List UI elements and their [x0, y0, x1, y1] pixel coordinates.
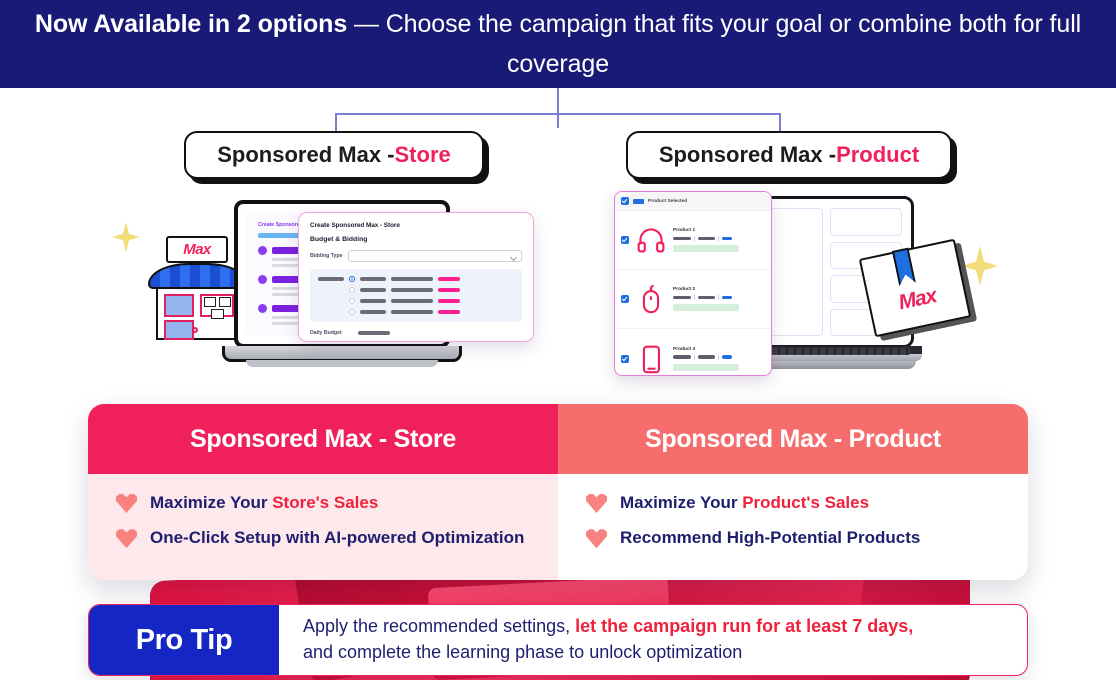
product-row[interactable]: Product 3: [615, 329, 771, 376]
sparkle-icon: [962, 246, 998, 286]
product-checkbox[interactable]: [621, 295, 629, 303]
top-banner: Now Available in 2 options — Choose the …: [0, 0, 1116, 88]
pro-tip-badge: Pro Tip: [89, 605, 279, 675]
list-item: Maximize Your Store's Sales: [116, 492, 530, 513]
product-checkbox[interactable]: [621, 355, 629, 363]
comparison-column-store: Sponsored Max - Store Maximize Your Stor…: [88, 404, 558, 580]
product-row[interactable]: Product 1: [615, 211, 771, 270]
item-hot: Product's Sales: [742, 493, 869, 512]
item-lead: One-Click Setup with AI-powered Optimiza…: [150, 528, 524, 547]
pro-tip-lead: Apply the recommended settings,: [303, 616, 575, 636]
product-name: Product 1: [673, 228, 765, 233]
bidding-type-select[interactable]: [348, 250, 522, 262]
heart-icon: [586, 494, 607, 513]
pill-product-accent: Product: [836, 142, 919, 168]
illustration-band: Max Create Sponsored Max -: [0, 186, 1116, 398]
headphones-icon: [634, 219, 668, 261]
product-name: Product 3: [673, 347, 765, 352]
pill-store-prefix: Sponsored Max -: [217, 142, 394, 168]
bidding-radio[interactable]: [349, 276, 355, 282]
banner-rest: — Choose the campaign that fits your goa…: [347, 10, 1081, 79]
banner-text: Now Available in 2 options — Choose the …: [0, 4, 1116, 85]
product-selected-header: Product Selected: [615, 192, 771, 211]
select-all-checkbox[interactable]: [621, 197, 629, 205]
product-selected-card: Product Selected Product 1: [614, 191, 772, 376]
product-name: Product 2: [673, 287, 765, 292]
item-hot: Store's Sales: [272, 493, 378, 512]
bidding-radio[interactable]: [349, 287, 355, 293]
product-row[interactable]: Product 2: [615, 270, 771, 329]
connector-horizontal: [335, 113, 781, 115]
list-item: One-Click Setup with AI-powered Optimiza…: [116, 527, 530, 548]
bidding-radio[interactable]: [349, 298, 355, 304]
comparison-panel: Sponsored Max - Store Maximize Your Stor…: [88, 404, 1028, 580]
product-checkbox[interactable]: [621, 236, 629, 244]
item-lead: Maximize Your: [150, 493, 272, 512]
pro-tip-line-1: Apply the recommended settings, let the …: [303, 614, 1003, 640]
pro-tip-line-2: and complete the learning phase to unloc…: [303, 640, 1003, 666]
smartphone-icon: [634, 338, 668, 377]
comparison-header-store: Sponsored Max - Store: [88, 404, 558, 474]
budget-bidding-heading: Budget & Bidding: [310, 236, 522, 243]
comparison-column-product: Sponsored Max - Product Maximize Your Pr…: [558, 404, 1028, 580]
list-item: Recommend High-Potential Products: [586, 527, 1000, 548]
mouse-icon: [634, 278, 668, 320]
create-campaign-heading: Create Sponsored Max - Store: [310, 222, 522, 229]
bidding-options-panel: [310, 269, 522, 322]
item-lead: Recommend High-Potential Products: [620, 528, 920, 547]
heart-icon: [116, 494, 137, 513]
bidding-type-label: Bidding Type: [310, 253, 342, 259]
pro-tip-panel: Pro Tip Apply the recommended settings, …: [88, 604, 1028, 676]
store-sign-label: Max: [183, 241, 210, 258]
pill-store-accent: Store: [395, 142, 451, 168]
list-item: Maximize Your Product's Sales: [586, 492, 1000, 513]
infographic-canvas: Now Available in 2 options — Choose the …: [0, 0, 1116, 680]
connector-vertical-top: [557, 88, 559, 128]
item-lead: Maximize Your: [620, 493, 742, 512]
bidding-radio[interactable]: [349, 309, 355, 315]
store-sign: Max: [166, 236, 228, 263]
product-selected-label: Product Selected: [648, 199, 687, 204]
banner-strong: Now Available in 2 options: [35, 10, 347, 38]
pill-store[interactable]: Sponsored Max - Store: [184, 131, 484, 179]
pill-product[interactable]: Sponsored Max - Product: [626, 131, 952, 179]
create-campaign-card: Create Sponsored Max - Store Budget & Bi…: [298, 212, 534, 342]
pill-product-prefix: Sponsored Max -: [659, 142, 836, 168]
sparkle-icon: [112, 222, 140, 252]
daily-budget-label: Daily Budget: [310, 330, 342, 336]
heart-icon: [116, 529, 137, 548]
heart-icon: [586, 529, 607, 548]
pro-tip-highlight: let the campaign run for at least 7 days…: [575, 616, 913, 636]
comparison-header-product: Sponsored Max - Product: [558, 404, 1028, 474]
